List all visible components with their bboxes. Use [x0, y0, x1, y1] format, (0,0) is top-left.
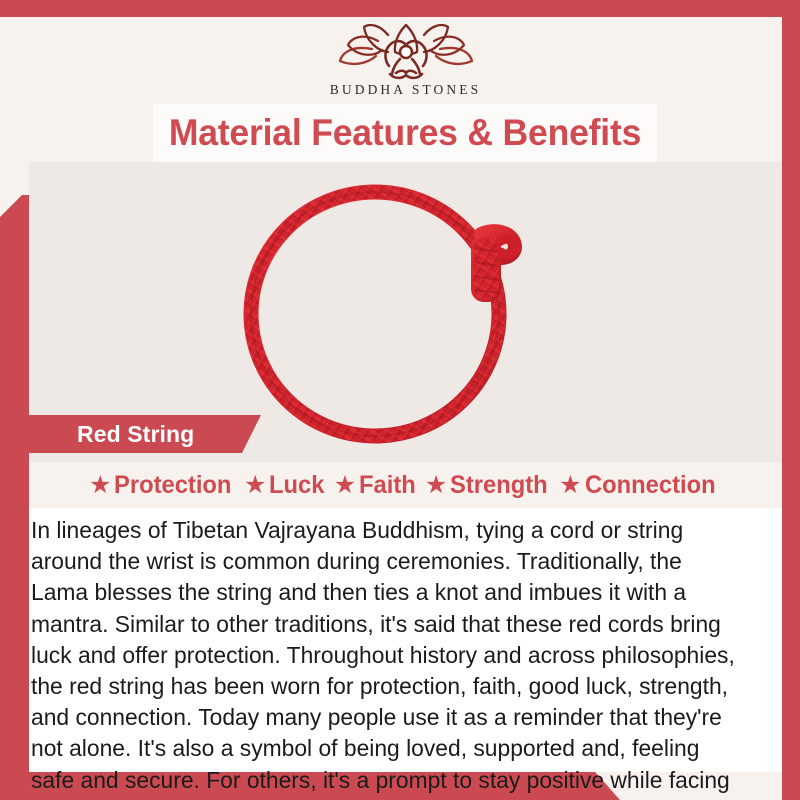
brand-wordmark: BUDDHA STONES: [330, 82, 481, 98]
description-text: In lineages of Tibetan Vajrayana Buddhis…: [31, 515, 743, 800]
frame-top-bar: [0, 0, 800, 17]
feature-label: Luck: [269, 471, 324, 500]
feature-item-faith: ★ Faith: [334, 471, 419, 500]
feature-label: Faith: [359, 471, 416, 500]
product-name-label: Red String: [77, 421, 194, 448]
infographic-card: BUDDHA STONES Material Features & Benefi…: [0, 0, 800, 800]
star-icon: ★: [559, 473, 581, 498]
star-icon: ★: [425, 473, 447, 498]
feature-item-protection: ★ Protection: [89, 471, 238, 500]
feature-item-luck: ★ Luck: [244, 471, 328, 500]
feature-label: Protection: [114, 471, 231, 500]
product-name-ribbon: Red String: [29, 415, 261, 453]
brand-header: BUDDHA STONES: [29, 17, 782, 105]
star-icon: ★: [244, 473, 266, 498]
description-block: In lineages of Tibetan Vajrayana Buddhis…: [29, 508, 782, 772]
feature-label: Strength: [450, 471, 548, 500]
frame-left-bar: [0, 195, 29, 800]
page-title: Material Features & Benefits: [169, 112, 641, 154]
star-icon: ★: [89, 473, 111, 498]
frame-right-bar: [782, 0, 800, 800]
title-band: Material Features & Benefits: [153, 104, 657, 162]
feature-item-strength: ★ Strength: [425, 471, 553, 500]
feature-label: Connection: [585, 471, 716, 500]
lotus-meditation-icon: [332, 19, 480, 81]
feature-item-connection: ★ Connection: [559, 471, 722, 500]
feature-list: ★ Protection ★ Luck ★ Faith ★ Strength ★…: [29, 462, 782, 508]
star-icon: ★: [334, 473, 356, 498]
